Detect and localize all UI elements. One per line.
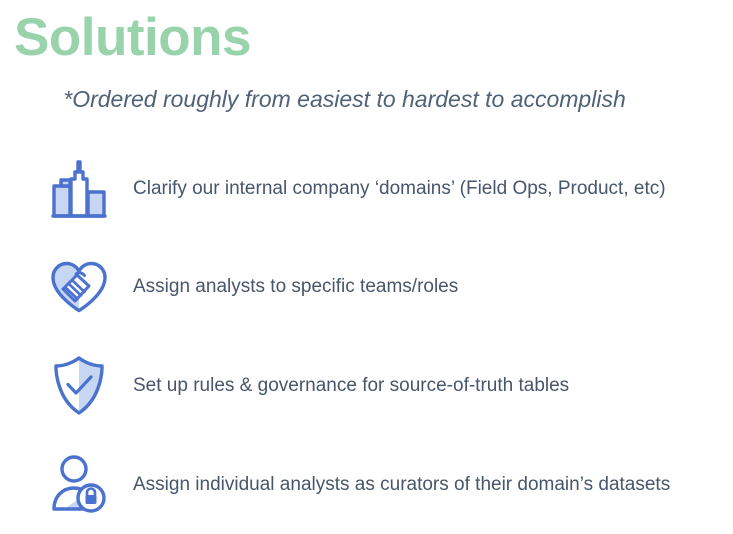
heart-handshake-icon (48, 254, 110, 320)
list-item-label: Clarify our internal company ‘domains’ (… (133, 176, 666, 202)
shield-check-icon (48, 353, 110, 419)
page-title: Solutions (14, 6, 251, 70)
page-subtitle: *Ordered roughly from easiest to hardest… (0, 84, 689, 114)
user-lock-icon (48, 452, 110, 518)
list-item: Clarify our internal company ‘domains’ (… (0, 141, 733, 237)
list-item-label: Assign individual analysts as curators o… (133, 472, 670, 498)
list-item: Assign analysts to specific teams/roles (0, 237, 733, 336)
list-item: Set up rules & governance for source-of-… (0, 336, 733, 435)
list-item-label: Set up rules & governance for source-of-… (133, 373, 569, 399)
list-item-label: Assign analysts to specific teams/roles (133, 274, 458, 300)
city-buildings-icon (48, 156, 110, 222)
solutions-list: Clarify our internal company ‘domains’ (… (0, 141, 733, 534)
list-item: Assign individual analysts as curators o… (0, 435, 733, 534)
solutions-slide: Solutions *Ordered roughly from easiest … (0, 0, 733, 516)
